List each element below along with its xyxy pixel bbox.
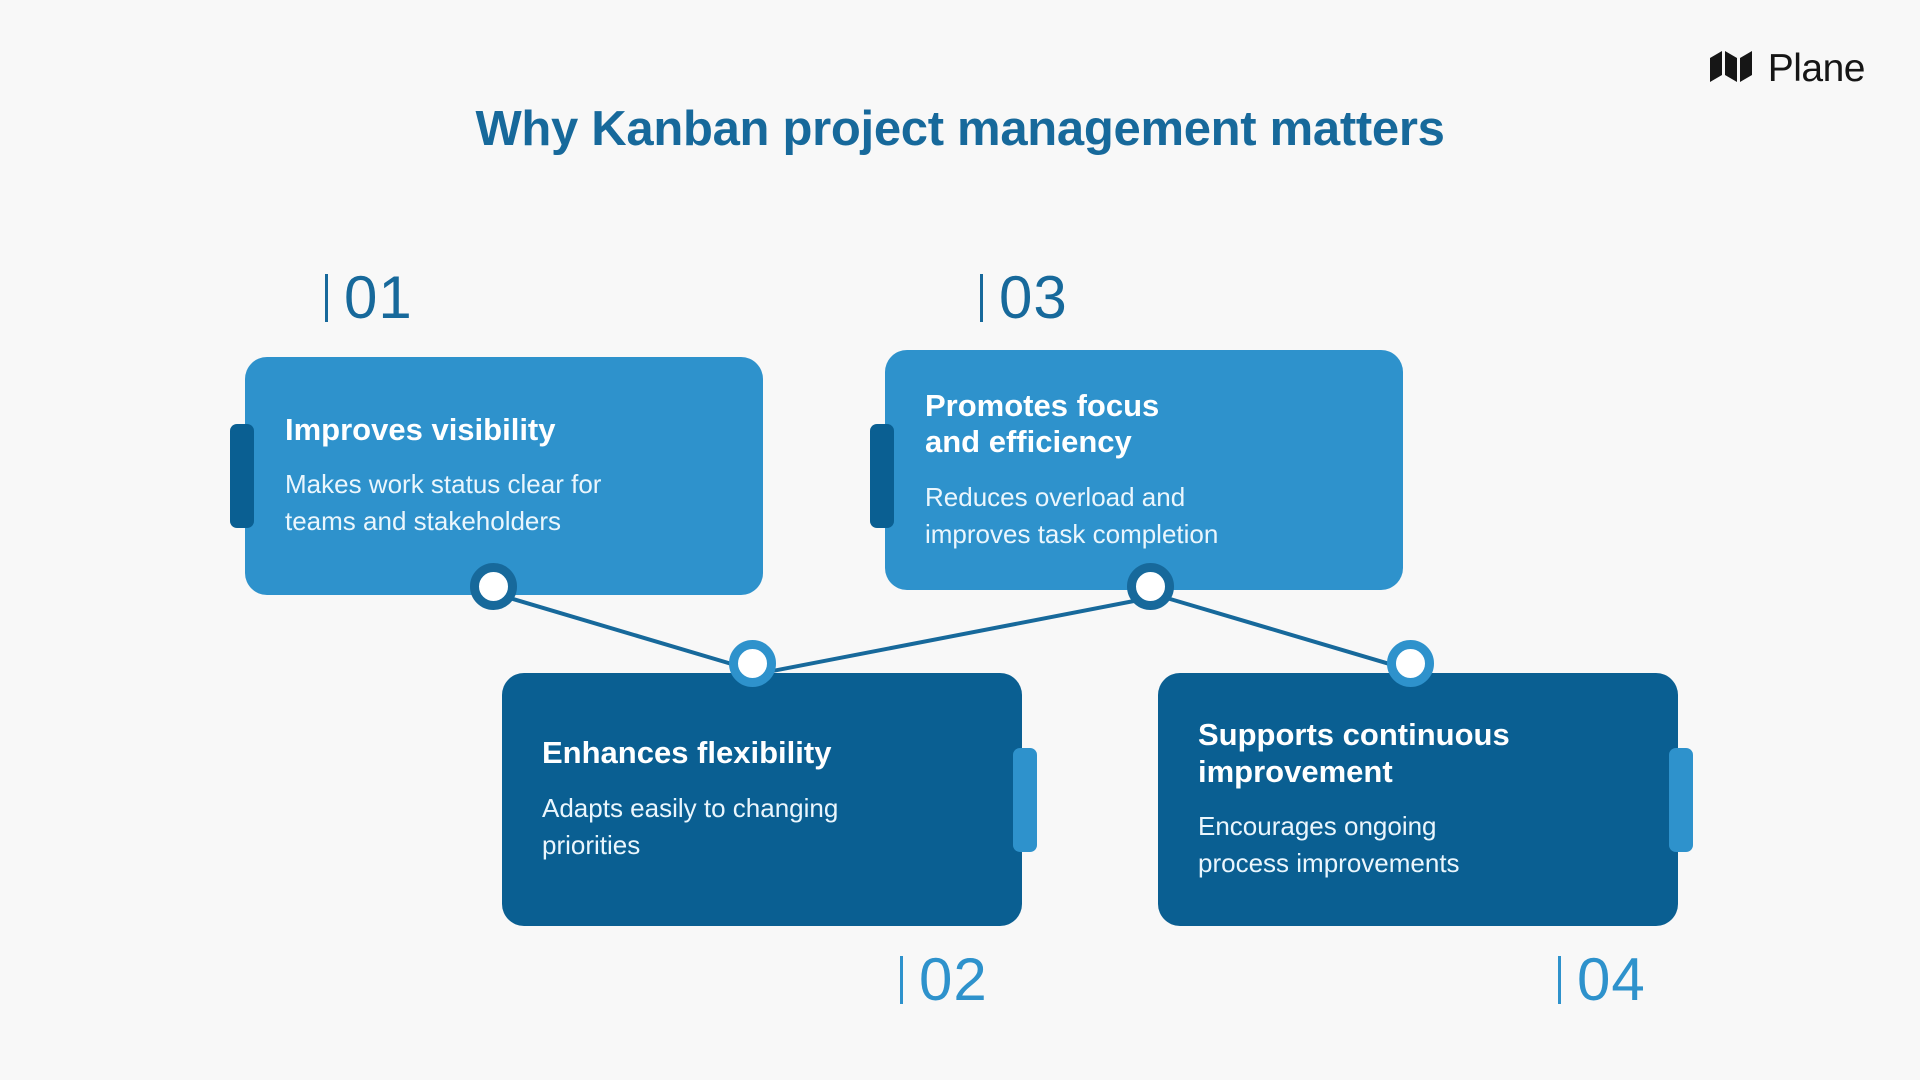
card-description: Encourages ongoing process improvements [1198,808,1638,882]
card-description: Makes work status clear for teams and st… [285,466,723,540]
node-04 [1387,640,1434,687]
card-title: Promotes focus and efficiency [925,388,1363,461]
number-text: 02 [919,950,988,1010]
card-title: Enhances flexibility [542,735,982,772]
node-01 [470,563,517,610]
card-improves-visibility[interactable]: Improves visibility Makes work status cl… [245,357,763,595]
card-side-tab [1013,748,1037,852]
card-description: Reduces overload and improves task compl… [925,479,1363,553]
node-02 [729,640,776,687]
node-03 [1127,563,1174,610]
number-bar-icon [900,956,903,1004]
number-bar-icon [1558,956,1561,1004]
card-side-tab [1669,748,1693,852]
infographic-slide: Plane Why Kanban project management matt… [0,0,1920,1080]
card-number-01: 01 [325,268,413,328]
card-number-03: 03 [980,268,1068,328]
card-enhances-flexibility[interactable]: Enhances flexibility Adapts easily to ch… [502,673,1022,926]
number-text: 03 [999,268,1068,328]
card-side-tab [230,424,254,528]
card-number-02: 02 [900,950,988,1010]
card-description: Adapts easily to changing priorities [542,790,982,864]
number-text: 04 [1577,950,1646,1010]
number-bar-icon [325,274,328,322]
card-supports-continuous-improvement[interactable]: Supports continuous improvement Encourag… [1158,673,1678,926]
card-promotes-focus-and-efficiency[interactable]: Promotes focus and efficiency Reduces ov… [885,350,1403,590]
card-title: Supports continuous improvement [1198,717,1638,790]
number-bar-icon [980,274,983,322]
card-title: Improves visibility [285,412,723,449]
card-side-tab [870,424,894,528]
card-number-04: 04 [1558,950,1646,1010]
number-text: 01 [344,268,413,328]
